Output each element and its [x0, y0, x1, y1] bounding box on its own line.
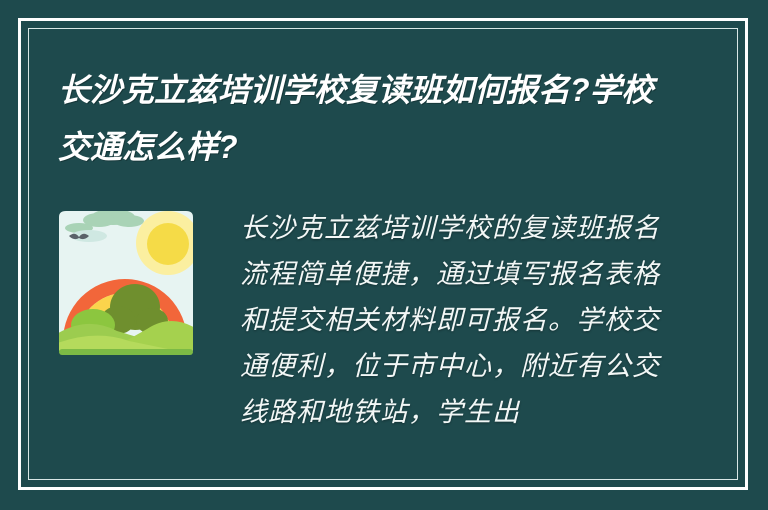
rainbow-landscape-illustration — [55, 203, 197, 355]
poster-canvas: 长沙克立兹培训学校复读班如何报名?学校交通怎么样? — [0, 0, 768, 510]
body-text: 长沙克立兹培训学校的复读班报名流程简单便捷，通过填写报名表格和提交相关材料即可报… — [240, 206, 670, 456]
page-title: 长沙克立兹培训学校复读班如何报名?学校交通怎么样? — [58, 62, 658, 176]
